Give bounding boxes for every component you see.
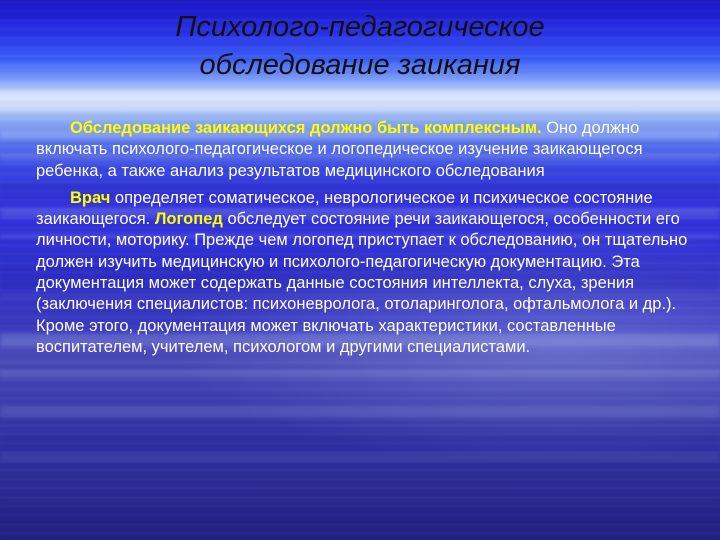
slide-title: Психолого-педагогическое обследование за… xyxy=(0,8,720,84)
highlighted-text-run: Логопед xyxy=(155,210,223,228)
body-paragraph-2: Врач определяет соматическое, неврологич… xyxy=(36,188,690,358)
text-run: обследует состояние речи заикающегося, о… xyxy=(36,210,687,356)
slide-body-text: Обследование заикающихся должно быть ком… xyxy=(36,118,690,364)
highlighted-text-run: Врач xyxy=(70,189,110,207)
presentation-slide: Психолого-педагогическое обследование за… xyxy=(0,0,720,540)
body-paragraph-1: Обследование заикающихся должно быть ком… xyxy=(36,118,690,182)
highlighted-text-run: Обследование заикающихся должно быть ком… xyxy=(70,119,542,137)
slide-title-line-2: обследование заикания xyxy=(60,46,660,84)
slide-title-line-1: Психолого-педагогическое xyxy=(60,8,660,46)
